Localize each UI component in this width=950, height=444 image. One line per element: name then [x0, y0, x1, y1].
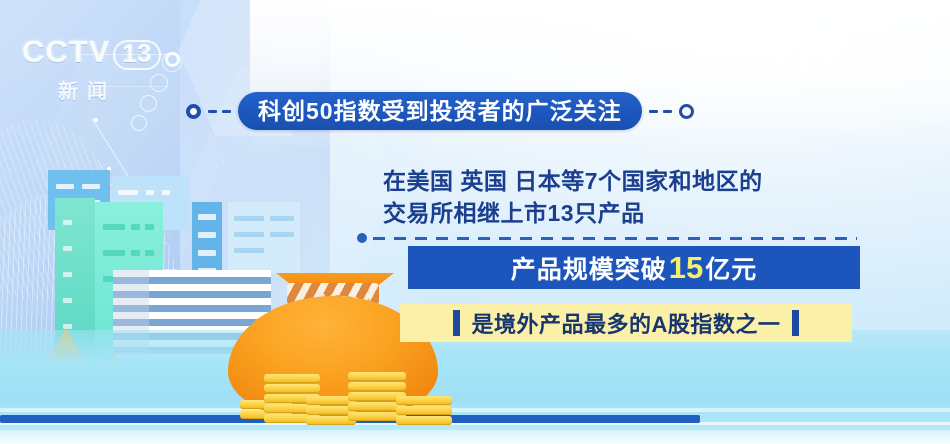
foreground-cyan-band [0, 330, 950, 444]
cctv-logo-subtitle: 新闻 [58, 75, 182, 104]
cctv-logo: CCTV13 新闻 [22, 36, 182, 98]
solid-dot-icon [186, 104, 201, 119]
tick-mark-left-icon [453, 310, 460, 336]
ground-stripe-1 [0, 408, 950, 412]
watermark-text: CCTV.com [778, 47, 919, 80]
blue-bar-number: 15 [667, 250, 705, 286]
blue-bar-prefix: 产品规模突破 [511, 250, 667, 286]
headline-text: 科创50指数受到投资者的广泛关注 [258, 100, 622, 123]
separator-dot-icon [357, 233, 367, 243]
cctv-com-watermark: CCTV.com [778, 44, 946, 84]
hollow-dot-icon [679, 104, 694, 119]
dash-decor-left [208, 110, 231, 113]
broadcast-graphic: CCTV13 新闻 CCTV.com [0, 0, 950, 444]
yellow-bar-text: 是境外产品最多的A股指数之一 [472, 307, 781, 339]
blue-bar-suffix: 亿元 [705, 250, 757, 286]
building-pale-right [228, 202, 300, 274]
yellow-highlight-bar: 是境外产品最多的A股指数之一 [400, 304, 852, 342]
body-line-1: 在美国 英国 日本等7个国家和地区的 [383, 165, 843, 197]
body-line-2: 交易所相继上市13只产品 [383, 197, 843, 229]
dashed-separator [357, 232, 857, 244]
accent-dot-1 [94, 118, 98, 122]
ground-stripe-3 [0, 430, 950, 444]
cctv-logo-text: CCTV [22, 34, 110, 69]
body-text-block: 在美国 英国 日本等7个国家和地区的 交易所相继上市13只产品 [383, 165, 843, 229]
dash-decor-right [649, 110, 672, 113]
blue-highlight-bar: 产品规模突破 15 亿元 [408, 246, 860, 289]
headline-banner: 科创50指数受到投资者的广泛关注 [186, 92, 694, 130]
separator-line [373, 237, 857, 240]
ring-decor-4 [131, 115, 147, 131]
headline-pill: 科创50指数受到投资者的广泛关注 [238, 92, 642, 130]
tick-mark-right-icon [792, 310, 799, 336]
cctv-logo-number: 13 [113, 40, 161, 70]
